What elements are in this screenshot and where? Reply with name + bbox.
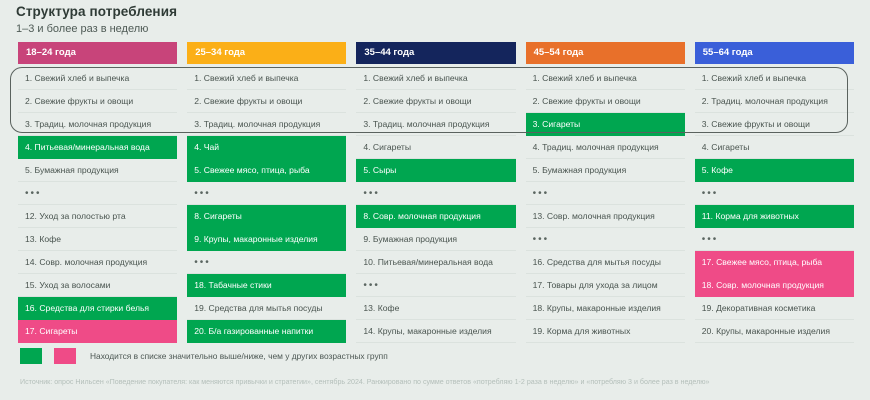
- list-item: 8. Сигареты: [187, 205, 346, 228]
- list-item: 5. Бумажная продукция: [526, 159, 685, 182]
- age-group-header: 35–44 года: [356, 42, 515, 64]
- list-item: 1. Свежий хлеб и выпечка: [526, 67, 685, 90]
- list-item: 2. Свежие фрукты и овощи: [526, 90, 685, 113]
- legend-swatch-green-icon: [20, 348, 42, 364]
- list-item: 3. Традиц. молочная продукция: [18, 113, 177, 136]
- list-item: 13. Кофе: [18, 228, 177, 251]
- age-group-header: 45–54 года: [526, 42, 685, 64]
- list-item-ellipsis: •••: [187, 251, 346, 274]
- ranked-item-list: 1. Свежий хлеб и выпечка2. Свежие фрукты…: [356, 67, 515, 343]
- list-item: 2. Традиц. молочная продукция: [695, 90, 854, 113]
- list-item: 17. Товары для ухода за лицом: [526, 274, 685, 297]
- source-note: Источник: опрос Нильсен «Поведение покуп…: [20, 378, 856, 386]
- list-item: 2. Свежие фрукты и овощи: [187, 90, 346, 113]
- list-item: 20. Б/а газированные напитки: [187, 320, 346, 343]
- list-item: 13. Кофе: [356, 297, 515, 320]
- page-title: Структура потребления: [16, 4, 177, 21]
- list-item: 5. Сыры: [356, 159, 515, 182]
- list-item: 18. Совр. молочная продукция: [695, 274, 854, 297]
- list-item: 5. Свежее мясо, птица, рыба: [187, 159, 346, 182]
- age-group-columns: 18–24 года1. Свежий хлеб и выпечка2. Све…: [18, 42, 854, 343]
- consumption-structure-infographic: Структура потребления 1–3 и более раз в …: [0, 0, 870, 400]
- list-item: 9. Бумажная продукция: [356, 228, 515, 251]
- list-item: 19. Средства для мытья посуды: [187, 297, 346, 320]
- list-item: 4. Традиц. молочная продукция: [526, 136, 685, 159]
- list-item: 4. Питьевая/минеральная вода: [18, 136, 177, 159]
- ranked-item-list: 1. Свежий хлеб и выпечка2. Традиц. молоч…: [695, 67, 854, 343]
- list-item: 10. Питьевая/минеральная вода: [356, 251, 515, 274]
- age-group-header: 55–64 года: [695, 42, 854, 64]
- list-item: 18. Крупы, макаронные изделия: [526, 297, 685, 320]
- list-item: 1. Свежий хлеб и выпечка: [356, 67, 515, 90]
- list-item-ellipsis: •••: [695, 182, 854, 205]
- list-item: 18. Табачные стики: [187, 274, 346, 297]
- list-item: 20. Крупы, макаронные изделия: [695, 320, 854, 343]
- ranked-item-list: 1. Свежий хлеб и выпечка2. Свежие фрукты…: [187, 67, 346, 343]
- list-item: 1. Свежий хлеб и выпечка: [187, 67, 346, 90]
- age-group-header: 25–34 года: [187, 42, 346, 64]
- list-item: 19. Корма для животных: [526, 320, 685, 343]
- list-item: 2. Свежие фрукты и овощи: [18, 90, 177, 113]
- list-item: 1. Свежий хлеб и выпечка: [695, 67, 854, 90]
- list-item: 14. Крупы, макаронные изделия: [356, 320, 515, 343]
- list-item-ellipsis: •••: [526, 182, 685, 205]
- list-item: 4. Чай: [187, 136, 346, 159]
- list-item-ellipsis: •••: [187, 182, 346, 205]
- legend-label: Находится в списке значительно выше/ниже…: [90, 351, 388, 361]
- list-item: 9. Крупы, макаронные изделия: [187, 228, 346, 251]
- list-item: 17. Свежее мясо, птица, рыба: [695, 251, 854, 274]
- legend: Находится в списке значительно выше/ниже…: [20, 348, 388, 364]
- list-item-ellipsis: •••: [695, 228, 854, 251]
- title-block: Структура потребления 1–3 и более раз в …: [16, 4, 177, 37]
- list-item: 15. Уход за волосами: [18, 274, 177, 297]
- list-item: 19. Декоративная косметика: [695, 297, 854, 320]
- list-item: 2. Свежие фрукты и овощи: [356, 90, 515, 113]
- page-subtitle: 1–3 и более раз в неделю: [16, 23, 177, 37]
- list-item-ellipsis: •••: [356, 274, 515, 297]
- list-item: 16. Средства для мытья посуды: [526, 251, 685, 274]
- list-item: 3. Традиц. молочная продукция: [356, 113, 515, 136]
- list-item: 5. Бумажная продукция: [18, 159, 177, 182]
- list-item: 3. Традиц. молочная продукция: [187, 113, 346, 136]
- list-item: 17. Сигареты: [18, 320, 177, 343]
- age-group-header: 18–24 года: [18, 42, 177, 64]
- age-group-column: 45–54 года1. Свежий хлеб и выпечка2. Све…: [526, 42, 685, 343]
- list-item-ellipsis: •••: [18, 182, 177, 205]
- age-group-column: 35–44 года1. Свежий хлеб и выпечка2. Све…: [356, 42, 515, 343]
- list-item: 1. Свежий хлеб и выпечка: [18, 67, 177, 90]
- list-item: 12. Уход за полостью рта: [18, 205, 177, 228]
- age-group-column: 18–24 года1. Свежий хлеб и выпечка2. Све…: [18, 42, 177, 343]
- list-item-ellipsis: •••: [356, 182, 515, 205]
- list-item: 5. Кофе: [695, 159, 854, 182]
- ranked-item-list: 1. Свежий хлеб и выпечка2. Свежие фрукты…: [526, 67, 685, 343]
- list-item: 3. Свежие фрукты и овощи: [695, 113, 854, 136]
- list-item: 11. Корма для животных: [695, 205, 854, 228]
- ranked-item-list: 1. Свежий хлеб и выпечка2. Свежие фрукты…: [18, 67, 177, 343]
- legend-swatch-pink-icon: [54, 348, 76, 364]
- list-item-ellipsis: •••: [526, 228, 685, 251]
- list-item: 4. Сигареты: [695, 136, 854, 159]
- list-item: 13. Совр. молочная продукция: [526, 205, 685, 228]
- list-item: 14. Совр. молочная продукция: [18, 251, 177, 274]
- list-item: 3. Сигареты: [526, 113, 685, 136]
- age-group-column: 55–64 года1. Свежий хлеб и выпечка2. Тра…: [695, 42, 854, 343]
- list-item: 4. Сигареты: [356, 136, 515, 159]
- age-group-column: 25–34 года1. Свежий хлеб и выпечка2. Све…: [187, 42, 346, 343]
- list-item: 8. Совр. молочная продукция: [356, 205, 515, 228]
- list-item: 16. Средства для стирки белья: [18, 297, 177, 320]
